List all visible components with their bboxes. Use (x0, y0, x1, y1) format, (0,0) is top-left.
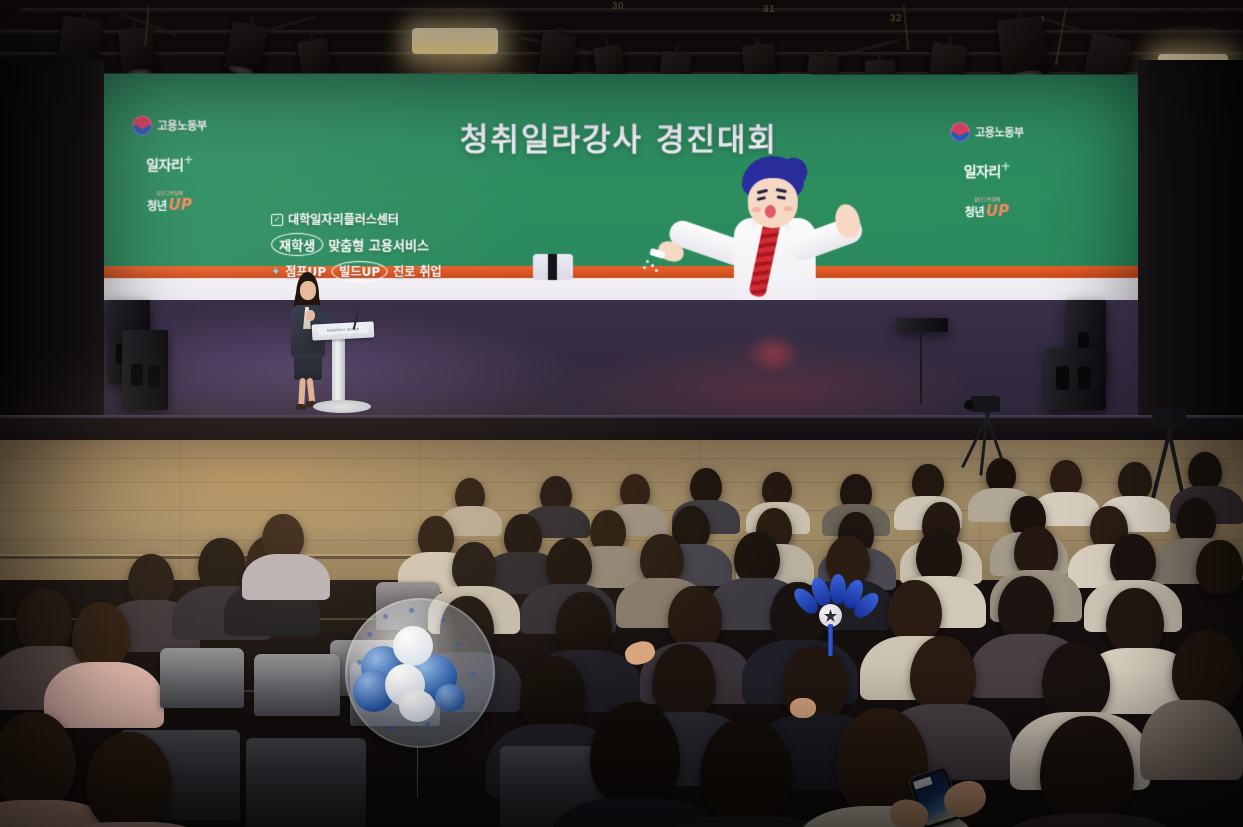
youth-up-logo: 청년고용정책 청년UP (965, 198, 1009, 220)
logo-cluster-left: 고용노동부 일자리+ 청년고용정책 청년UP (132, 116, 207, 214)
audience-head (590, 702, 680, 806)
audience-head (1050, 460, 1082, 496)
audience-head (762, 472, 792, 506)
podium: 청취일라강사 경진대회 (312, 321, 375, 340)
taegeuk-icon (950, 122, 970, 142)
stage-light-fixture (223, 21, 268, 75)
character-face (748, 178, 798, 228)
audience-head (1040, 716, 1134, 824)
stage-wing-left (0, 60, 104, 440)
audience-head (86, 732, 172, 827)
audience-head (668, 586, 722, 648)
stage-light-fixture (997, 15, 1050, 78)
jobs-plus-logo: 일자리+ (964, 159, 1010, 181)
check-box-icon: ✓ (271, 213, 283, 225)
character-mouth (765, 205, 776, 218)
audience-head (916, 530, 962, 582)
audience-head (556, 592, 612, 656)
audience-head (888, 580, 942, 642)
audience-head (690, 468, 722, 504)
monitor-speaker (896, 318, 948, 332)
program-line-1: ✓ 대학일자리플러스센터 (271, 211, 441, 228)
youth-up-logo: 청년고용정책 청년UP (147, 191, 192, 213)
audience-head (128, 554, 174, 606)
podium-base (313, 400, 371, 413)
cheer-hand-prop (806, 580, 858, 656)
audience-head (72, 602, 130, 668)
audience-head (1196, 540, 1243, 594)
audience-head (640, 534, 684, 584)
podium-post (332, 330, 345, 404)
program-line-2: 재학생 맞춤형 고용서비스 (271, 233, 441, 256)
presenter (282, 272, 338, 412)
highlight-oval: 빌드UP (331, 261, 388, 282)
ministry-logo: 고용노동부 (132, 116, 207, 136)
ledge-object (533, 254, 573, 280)
audience-head (998, 576, 1054, 640)
highlight-oval: 재학생 (271, 233, 323, 256)
audience-hand (790, 698, 816, 718)
bubble-balloon (345, 598, 495, 748)
audience-head (1042, 642, 1110, 720)
podium-sign: 청취일라강사 경진대회 (318, 326, 368, 336)
truss-number-32: 32 (890, 13, 902, 24)
taegeuk-icon (132, 116, 152, 136)
audience-head (652, 644, 716, 718)
audience-head (986, 458, 1016, 492)
stage-wing-right (1138, 60, 1243, 440)
plus-icon: + (1001, 159, 1011, 173)
stage-light-fixture (118, 27, 156, 76)
audience-head (1014, 526, 1058, 576)
audience (0, 430, 1243, 827)
auditorium-photo: 30 31 32 29 (0, 0, 1243, 827)
audience-head (1188, 452, 1222, 490)
ministry-logo: 고용노동부 (950, 122, 1024, 142)
audience-head (16, 588, 72, 652)
house-light-glow (412, 28, 498, 54)
jobs-plus-logo: 일자리+ (146, 153, 193, 175)
plus-icon: + (183, 153, 193, 167)
sparkle-icon: ✦ (271, 265, 280, 278)
audience-head (620, 474, 650, 508)
audience-head (734, 532, 780, 584)
audience-head (1172, 630, 1242, 710)
audience-head (546, 538, 592, 590)
audience-head (520, 656, 586, 732)
audience-head (700, 718, 792, 824)
audience-head (910, 636, 976, 712)
audience-head (912, 464, 944, 500)
speaker-stack-left (122, 330, 168, 410)
red-stage-spot (745, 333, 801, 373)
audience-head (452, 542, 496, 592)
speaker-stack-right (1046, 348, 1106, 410)
truss-number-30: 30 (612, 1, 624, 12)
logo-cluster-right: 고용노동부 일자리+ 청년고용정책 청년UP (950, 122, 1024, 219)
audience-head (198, 538, 246, 592)
mic-stand (920, 330, 922, 404)
truss-number-31: 31 (763, 4, 775, 15)
audience-head (1106, 588, 1164, 654)
audience-head (1110, 534, 1156, 586)
audience-head (1118, 462, 1152, 500)
